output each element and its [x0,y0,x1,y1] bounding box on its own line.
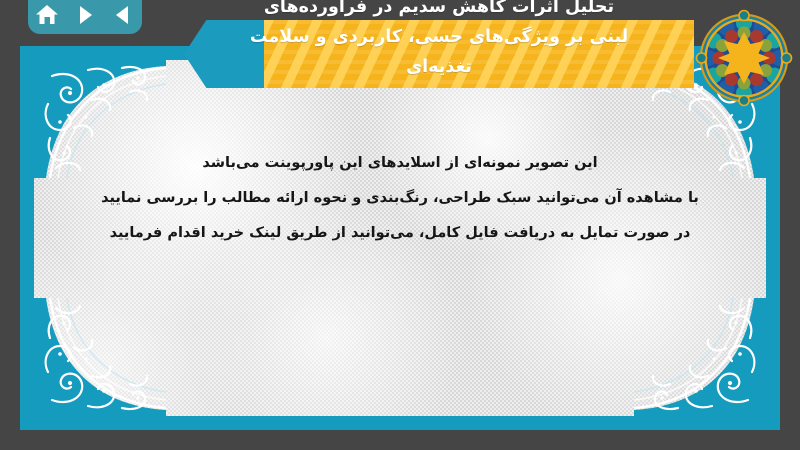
home-button[interactable] [32,0,62,30]
slide-viewer: این تصویر نمونه‌ای از اسلایدهای این پاور… [0,0,800,450]
home-icon [35,4,59,26]
page-title: تحلیل اثرات کاهش سدیم در فرآورده‌های لبن… [184,0,694,82]
forward-button[interactable] [70,0,100,30]
title-line: لبنی بر ویژگی‌های حسی، کاربردی و سلامت [190,22,688,52]
slide-title-banner: تحلیل اثرات کاهش سدیم در فرآورده‌های لبن… [184,0,694,104]
slide-canvas: این تصویر نمونه‌ای از اسلایدهای این پاور… [34,60,766,416]
navigation-bar [28,0,142,34]
back-arrow-icon [114,5,132,25]
back-button[interactable] [108,0,138,30]
forward-arrow-icon [76,5,94,25]
arabesque-corner-icon [34,298,166,416]
body-line: با مشاهده آن می‌توانید سبک طراحی، رنگ‌بن… [58,181,742,216]
title-line: تحلیل اثرات کاهش سدیم در فرآورده‌های [190,0,688,22]
arabesque-corner-icon [634,298,766,416]
title-line: تغذیه‌ای [190,52,688,82]
mandala-medallion-icon [692,6,796,110]
body-line: این تصویر نمونه‌ای از اسلایدهای این پاور… [58,146,742,181]
slide-body-text: این تصویر نمونه‌ای از اسلایدهای این پاور… [34,146,766,251]
body-line: در صورت تمایل به دریافت فایل کامل، می‌تو… [58,216,742,251]
